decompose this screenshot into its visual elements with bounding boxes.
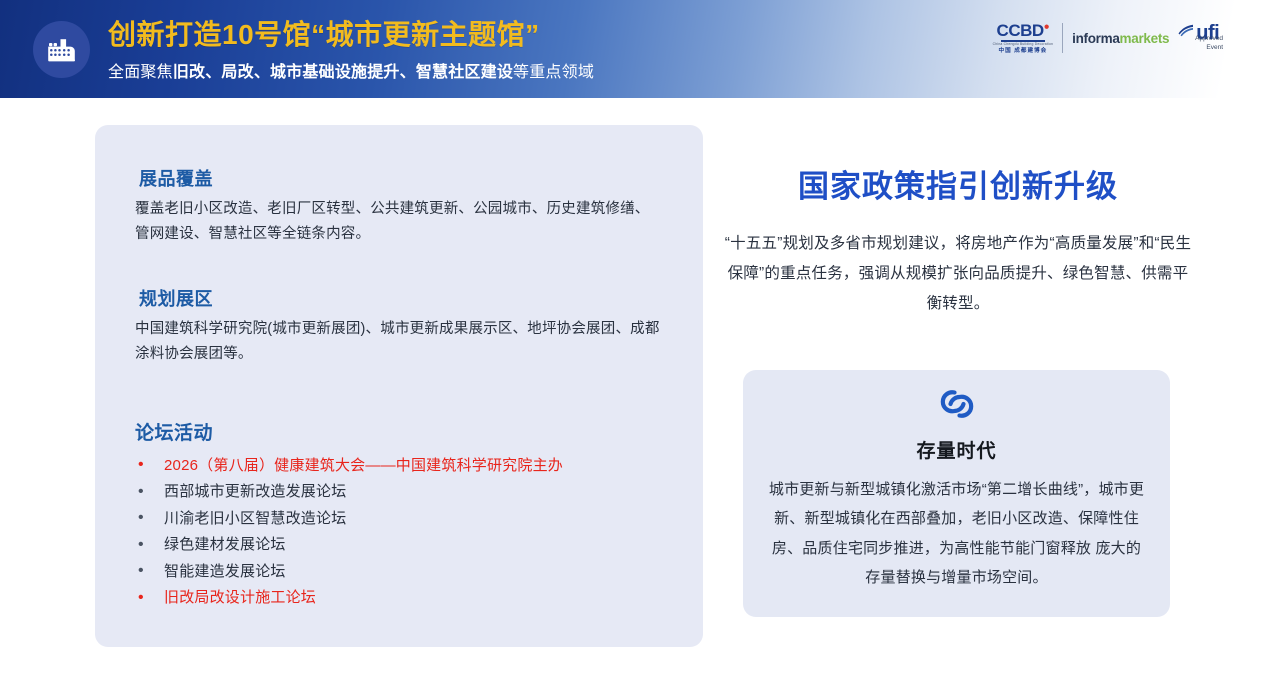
section-heading-planned-zones: 规划展区 (139, 285, 213, 311)
header-text-block: 创新打造10号馆“城市更新主题馆” 全面聚焦旧改、局改、城市基础设施提升、智慧社… (108, 17, 594, 82)
ccbd-subtitle-cn: 中国 成都建博会 (999, 49, 1048, 55)
ccbd-wordmark: CCBD● (997, 22, 1050, 39)
logo-divider (1062, 23, 1063, 53)
page-header-band: 创新打造10号馆“城市更新主题馆” 全面聚焦旧改、局改、城市基础设施提升、智慧社… (0, 0, 1271, 98)
page-title: 创新打造10号馆“城市更新主题馆” (108, 17, 594, 52)
list-item[interactable]: • 绿色建材发展论坛 (135, 532, 675, 559)
ufi-swoosh-icon (1178, 24, 1194, 37)
section-body-exhibit-coverage: 覆盖老旧小区改造、老旧厂区转型、公共建筑更新、公园城市、历史建筑修缮、管网建设、… (135, 197, 663, 247)
forum-item-label: 旧改局改设计施工论坛 (164, 590, 316, 605)
list-item[interactable]: • 智能建造发展论坛 (135, 558, 675, 585)
factory-building-icon (47, 37, 77, 63)
page-subtitle: 全面聚焦旧改、局改、城市基础设施提升、智慧社区建设等重点领域 (108, 58, 594, 82)
chain-link-icon (935, 384, 979, 424)
subtitle-suffix: 等重点领域 (513, 64, 594, 81)
list-item[interactable]: • 西部城市更新改造发展论坛 (135, 479, 675, 506)
forum-activity-list: • 2026（第八届）健康建筑大会——中国建筑科学研究院主办 • 西部城市更新改… (135, 452, 675, 611)
ufi-event-line: Event (1195, 44, 1223, 52)
policy-column: 国家政策指引创新升级 “十五五”规划及多省市规划建议，将房地产作为“高质量发展”… (723, 168, 1193, 318)
subtitle-highlight: 旧改、局改、城市基础设施提升、智慧社区建设 (173, 64, 513, 81)
ccbd-logo: CCBD● China Chengdu Building Decoration … (993, 22, 1054, 55)
header-icon-badge (33, 21, 90, 78)
ufi-approved-event-text: Approved Event (1195, 35, 1223, 51)
policy-paragraph: “十五五”规划及多省市规划建议，将房地产作为“高质量发展”和“民生保障”的重点任… (723, 229, 1193, 318)
stock-card-body: 城市更新与新型城镇化激活市场“第二增长曲线”，城市更新、新型城镇化在西部叠加，老… (765, 475, 1148, 593)
bullet-icon: • (138, 457, 144, 473)
subtitle-prefix: 全面聚焦 (108, 64, 173, 81)
chain-icon-wrapper (743, 384, 1170, 424)
section-heading-forum-activities: 论坛活动 (135, 418, 213, 445)
ccbd-wordmark-text: CCBD (997, 21, 1044, 40)
ufi-approved-line: Approved (1195, 35, 1223, 43)
forum-item-label: 西部城市更新改造发展论坛 (164, 484, 346, 499)
bullet-icon: • (138, 590, 144, 606)
bullet-icon: • (138, 537, 144, 553)
forum-item-label: 2026（第八届）健康建筑大会——中国建筑科学研究院主办 (164, 458, 563, 473)
list-item[interactable]: • 川渝老旧小区智慧改造论坛 (135, 505, 675, 532)
list-item[interactable]: • 旧改局改设计施工论坛 (135, 585, 675, 612)
ccbd-dot-icon: ● (1044, 21, 1050, 32)
forum-item-label: 绿色建材发展论坛 (164, 537, 286, 552)
forum-item-label: 川渝老旧小区智慧改造论坛 (164, 511, 346, 526)
ufi-approved-event-logo: ufi Approved Event (1178, 24, 1223, 51)
exhibit-info-panel: 展品覆盖 覆盖老旧小区改造、老旧厂区转型、公共建筑更新、公园城市、历史建筑修缮、… (95, 125, 703, 647)
stock-era-card: 存量时代 城市更新与新型城镇化激活市场“第二增长曲线”，城市更新、新型城镇化在西… (743, 370, 1170, 617)
ccbd-subtitle-en: China Chengdu Building Decoration (993, 43, 1054, 47)
bullet-icon: • (138, 563, 144, 579)
informa-word: informa (1072, 31, 1119, 46)
informa-markets-logo: informamarkets (1072, 31, 1169, 46)
policy-heading: 国家政策指引创新升级 (723, 168, 1193, 205)
forum-item-label: 智能建造发展论坛 (164, 564, 286, 579)
stock-card-title: 存量时代 (743, 436, 1170, 463)
list-item[interactable]: • 2026（第八届）健康建筑大会——中国建筑科学研究院主办 (135, 452, 675, 479)
bullet-icon: • (138, 510, 144, 526)
section-body-planned-zones: 中国建筑科学研究院(城市更新展团)、城市更新成果展示区、地坪协会展团、成都涂料协… (135, 317, 665, 367)
header-logo-group: CCBD● China Chengdu Building Decoration … (993, 18, 1223, 58)
markets-word: markets (1120, 31, 1170, 46)
bullet-icon: • (138, 484, 144, 500)
section-heading-exhibit-coverage: 展品覆盖 (139, 165, 213, 191)
